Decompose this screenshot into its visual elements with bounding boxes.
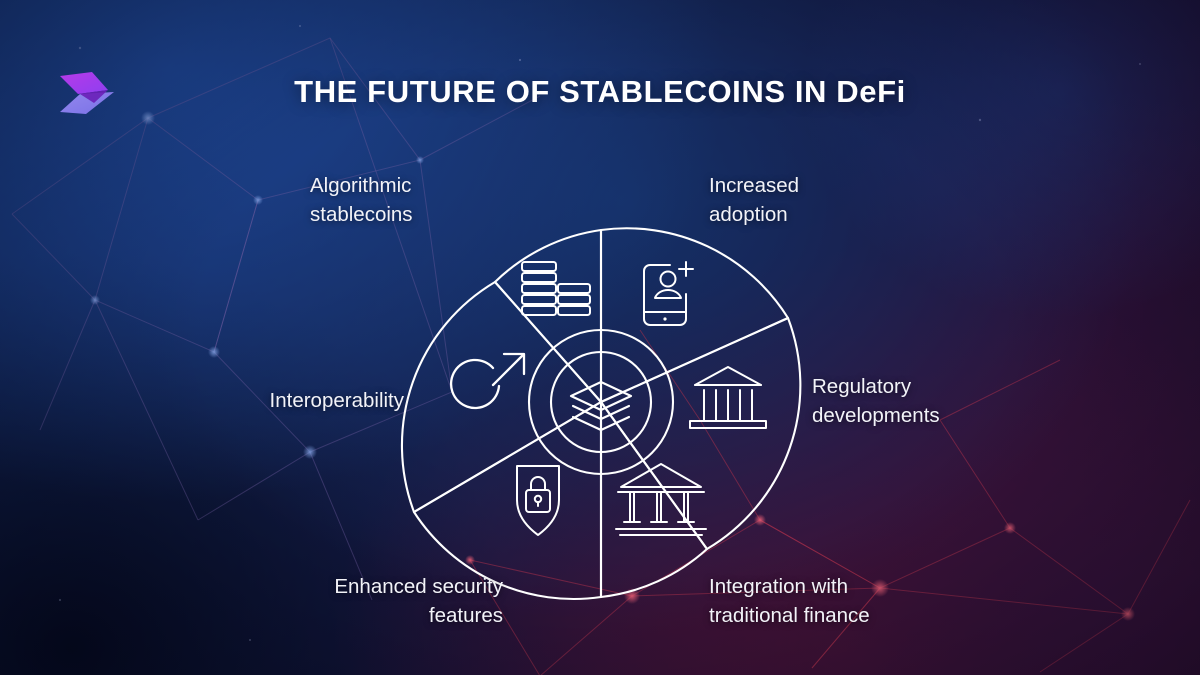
bank-columns-icon xyxy=(690,367,766,428)
mobile-add-user-icon xyxy=(644,262,693,325)
label-integration-traditional-finance: Integration with traditional finance xyxy=(709,573,939,630)
circular-arrow-growth-icon xyxy=(451,354,524,408)
coin-stacks-icon xyxy=(522,262,590,315)
label-algorithmic-stablecoins: Algorithmic stablecoins xyxy=(310,172,510,229)
label-regulatory-developments: Regulatory developments xyxy=(812,373,1032,430)
label-increased-adoption: Increased adoption xyxy=(709,172,919,229)
label-enhanced-security-features: Enhanced security features xyxy=(200,573,503,630)
label-interoperability: Interoperability xyxy=(178,387,404,416)
page-title: THE FUTURE OF STABLECOINS IN DeFi xyxy=(0,74,1200,110)
slide-canvas: THE FUTURE OF STABLECOINS IN DeFi xyxy=(0,0,1200,675)
pinwheel-diagram xyxy=(398,172,804,632)
shield-lock-icon xyxy=(517,466,559,535)
classical-bank-icon xyxy=(616,464,706,535)
